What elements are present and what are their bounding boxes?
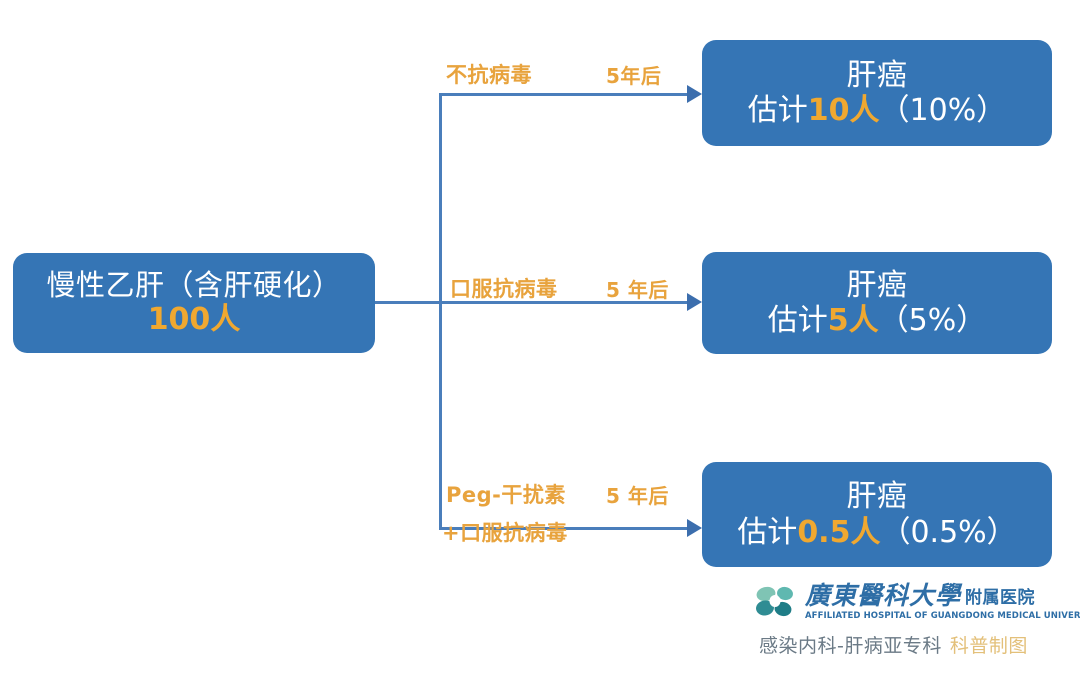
outcome-2-percent: （5%）	[879, 303, 987, 338]
logo-text-block: 廣東醫科大學 附属医院 AFFILIATED HOSPITAL OF GUANG…	[805, 583, 1080, 621]
branch-3-duration-label: 5 年后	[606, 480, 669, 509]
footer-caption: 感染内科-肝病亚专科科普制图	[755, 631, 1065, 658]
hospital-logo: 廣東醫科大學 附属医院 AFFILIATED HOSPITAL OF GUANG…	[755, 583, 1065, 621]
outcome-1-prefix: 估计	[748, 93, 808, 128]
branch-2-duration-label: 5 年后	[606, 274, 669, 303]
outcome-1-value: 10	[808, 93, 850, 128]
connector-branch-1	[439, 93, 689, 96]
outcome-2-title: 肝癌	[847, 268, 908, 303]
logo-chinese-row: 廣東醫科大學 附属医院	[805, 583, 1080, 608]
outcome-3-percent: （0.5%）	[880, 515, 1016, 550]
logo-affiliated-hospital: 附属医院	[965, 588, 1035, 608]
outcome-3-prefix: 估计	[737, 515, 797, 550]
branch-2-treatment-label: 口服抗病毒	[450, 273, 558, 303]
butterfly-logo-icon	[755, 585, 797, 619]
source-node-count: 100人	[148, 302, 241, 337]
connector-trunk	[439, 93, 442, 529]
source-count-value: 100	[148, 302, 211, 337]
source-node-chronic-hepatitis-b: 慢性乙肝（含肝硬化） 100人	[13, 253, 375, 353]
outcome-node-no-antiviral: 肝癌 估计10人（10%）	[702, 40, 1052, 146]
outcome-2-value: 5	[828, 303, 849, 338]
branch-3-treatment-label: Peg-干扰素	[446, 479, 566, 509]
outcome-3-value: 0.5	[797, 515, 850, 550]
outcome-2-prefix: 估计	[768, 303, 828, 338]
outcome-1-percent: （10%）	[880, 93, 1007, 128]
outcome-3-unit: 人	[850, 515, 880, 550]
outcome-1-detail: 估计10人（10%）	[748, 93, 1006, 128]
arrow-head-3	[687, 519, 702, 537]
outcome-3-title: 肝癌	[847, 479, 908, 514]
outcome-3-detail: 估计0.5人（0.5%）	[737, 515, 1016, 550]
connector-source-stub	[375, 301, 442, 304]
branch-1-duration-label: 5年后	[606, 60, 661, 89]
arrow-head-2	[687, 293, 702, 311]
branch-3-treatment-label-line2: +口服抗病毒	[442, 517, 568, 547]
arrow-head-1	[687, 85, 702, 103]
outcome-node-oral-antiviral: 肝癌 估计5人（5%）	[702, 252, 1052, 354]
footer-tag: 科普制图	[950, 635, 1028, 657]
outcome-2-detail: 估计5人（5%）	[768, 303, 986, 338]
footer: 廣東醫科大學 附属医院 AFFILIATED HOSPITAL OF GUANG…	[755, 583, 1065, 658]
branch-1-treatment-label: 不抗病毒	[446, 59, 532, 89]
source-count-unit: 人	[210, 302, 240, 337]
outcome-node-peg-interferon: 肝癌 估计0.5人（0.5%）	[702, 462, 1052, 567]
logo-english-name: AFFILIATED HOSPITAL OF GUANGDONG MEDICAL…	[805, 611, 1080, 621]
outcome-1-title: 肝癌	[847, 58, 908, 93]
outcome-2-unit: 人	[849, 303, 879, 338]
diagram-canvas: 慢性乙肝（含肝硬化） 100人 不抗病毒 5年后 口服抗病毒 5 年后 Peg-…	[0, 0, 1080, 696]
source-node-title: 慢性乙肝（含肝硬化）	[46, 268, 341, 302]
outcome-1-unit: 人	[850, 93, 880, 128]
logo-university-name: 廣東醫科大學	[805, 583, 961, 608]
footer-department: 感染内科-肝病亚专科	[759, 635, 942, 657]
